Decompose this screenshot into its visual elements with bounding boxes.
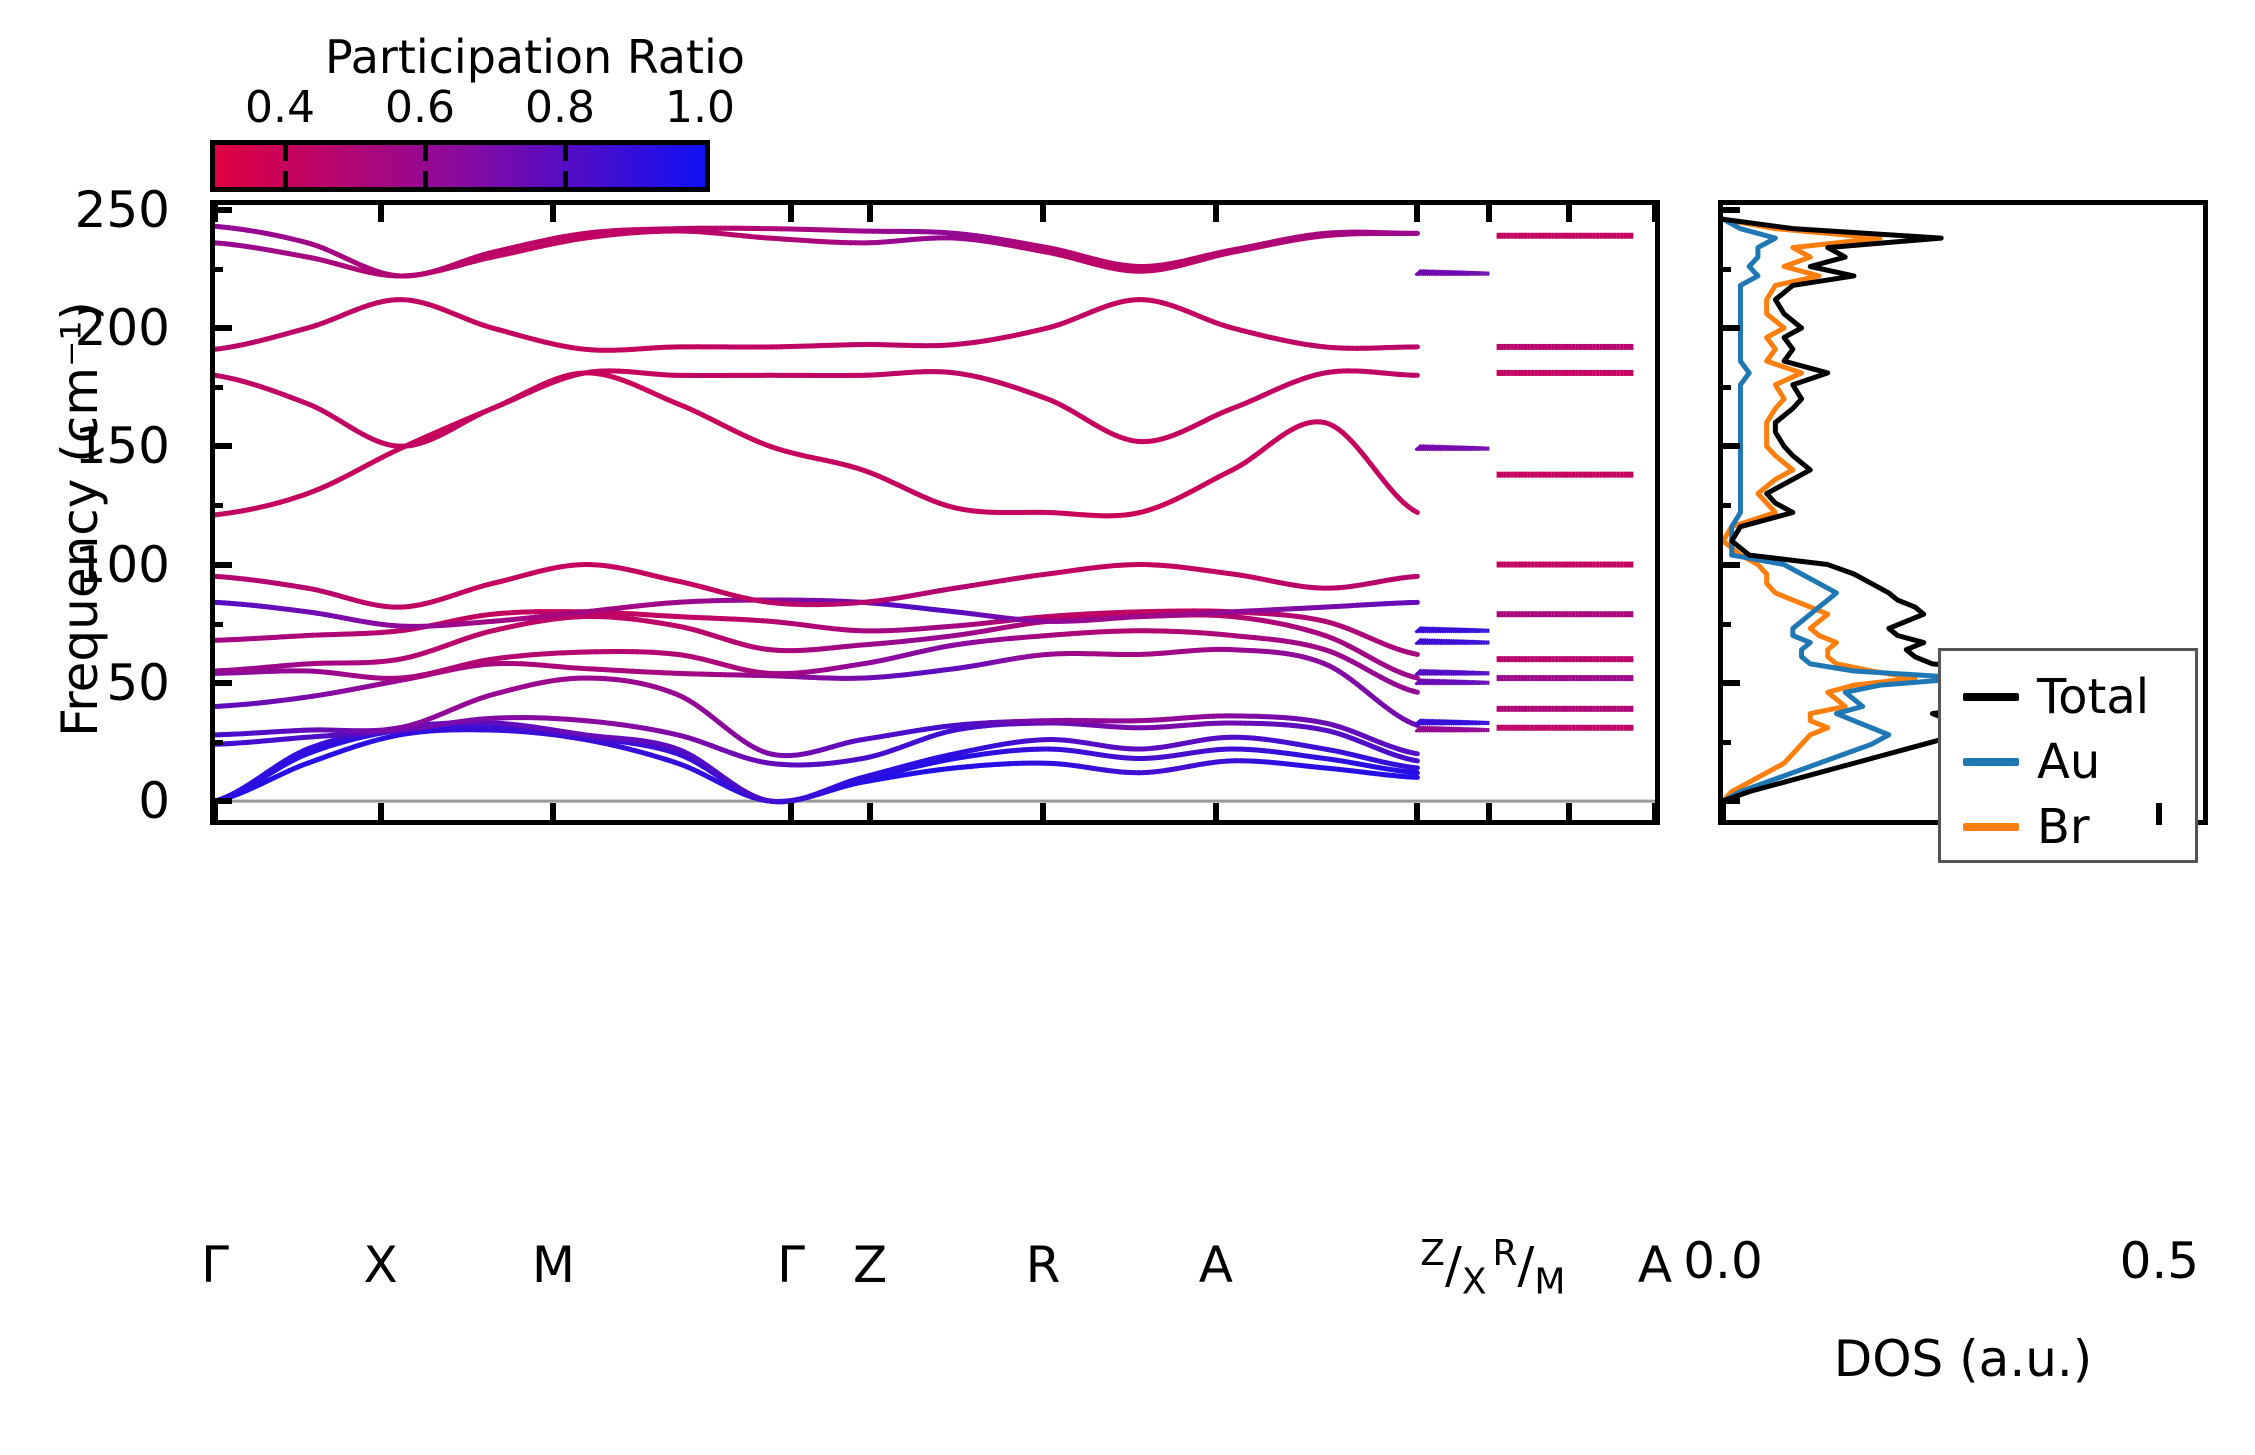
- colorbar-tick-0.6: 0.6: [385, 82, 455, 133]
- dos-y-minor-tickmark: [1718, 503, 1731, 508]
- legend-label-au: Au: [2037, 738, 2100, 786]
- dos-x-tick-labels: 0.00.5: [1718, 1232, 2208, 1312]
- band-y-tick-labels: 250200150100500: [0, 200, 190, 825]
- dos-y-tickmark: [1718, 680, 1740, 686]
- dos-y-tickmark: [1718, 562, 1740, 568]
- band-structure-panel: [210, 200, 1660, 825]
- dos-y-tickmark: [1718, 443, 1740, 449]
- legend-label-total: Total: [2037, 673, 2149, 721]
- colorbar-tickmark: [563, 145, 568, 161]
- colorbar-tick-0.4: 0.4: [245, 82, 315, 133]
- colorbar-tickmark: [283, 145, 288, 161]
- dos-y-tickmark: [1718, 325, 1740, 331]
- legend-swatch-br: [1963, 823, 2019, 831]
- legend-label-br: Br: [2037, 803, 2090, 851]
- dos-x-tick-0.5: 0.5: [2120, 1232, 2200, 1290]
- band-y-tick-200: 200: [75, 299, 170, 357]
- colorbar-tick-1.0: 1.0: [665, 82, 735, 133]
- band-x-tick-A: A: [1638, 1236, 1672, 1294]
- colorbar-tickmark: [423, 171, 428, 187]
- colorbar-tick-0.8: 0.8: [525, 82, 595, 133]
- dos-y-minor-tickmark: [1718, 740, 1731, 745]
- dos-y-minor-tickmark: [1718, 267, 1731, 272]
- legend-swatch-total: [1963, 693, 2019, 701]
- dos-x-tickmark: [1720, 803, 1726, 825]
- figure-canvas: Participation Ratio 0.40.60.81.0 Frequen…: [0, 0, 2255, 1455]
- dos-y-tickmark: [1718, 798, 1740, 804]
- band-x-tick-X: X: [363, 1236, 397, 1294]
- colorbar: [210, 140, 710, 192]
- dos-y-minor-tickmark: [1718, 622, 1731, 627]
- dos-y-minor-tickmark: [1718, 385, 1731, 390]
- dos-x-axis-label: DOS (a.u.): [1718, 1330, 2208, 1388]
- band-y-tick-150: 150: [75, 417, 170, 475]
- band-y-tick-50: 50: [106, 654, 170, 712]
- dos-y-tickmark: [1718, 207, 1740, 213]
- band-x-tick-R: R: [1026, 1236, 1061, 1294]
- dos-x-tickmark: [2156, 803, 2162, 825]
- colorbar-title: Participation Ratio: [0, 30, 1070, 84]
- dos-x-tick-0.0: 0.0: [1683, 1232, 1763, 1290]
- band-y-tick-100: 100: [75, 536, 170, 594]
- legend-swatch-au: [1963, 758, 2019, 766]
- colorbar-tickmark: [283, 171, 288, 187]
- band-y-tick-250: 250: [75, 181, 170, 239]
- band-x-tick-Γ: Γ: [777, 1236, 805, 1294]
- colorbar-gradient: [215, 145, 705, 187]
- legend-item-br[interactable]: Br: [1963, 803, 2090, 851]
- band-x-tick-R-M: R/M: [1493, 1236, 1566, 1301]
- legend-item-au[interactable]: Au: [1963, 738, 2100, 786]
- band-x-tick-Z: Z: [853, 1236, 887, 1294]
- band-x-tick-A: A: [1199, 1236, 1233, 1294]
- legend-item-total[interactable]: Total: [1963, 673, 2149, 721]
- dos-legend: Total Au Br: [1938, 648, 2198, 863]
- band-x-tick-Z-X: Z/X: [1420, 1236, 1486, 1301]
- colorbar-tickmark: [563, 171, 568, 187]
- band-y-tick-0: 0: [138, 772, 170, 830]
- band-x-tick-Γ: Γ: [201, 1236, 229, 1294]
- colorbar-tick-labels: 0.40.60.81.0: [210, 82, 710, 132]
- band-x-tick-labels: ΓXMΓZRAZ/XR/MA: [210, 1232, 1660, 1342]
- band-x-tick-M: M: [532, 1236, 575, 1294]
- band-structure-plot: [215, 205, 1655, 820]
- colorbar-tickmark: [423, 145, 428, 161]
